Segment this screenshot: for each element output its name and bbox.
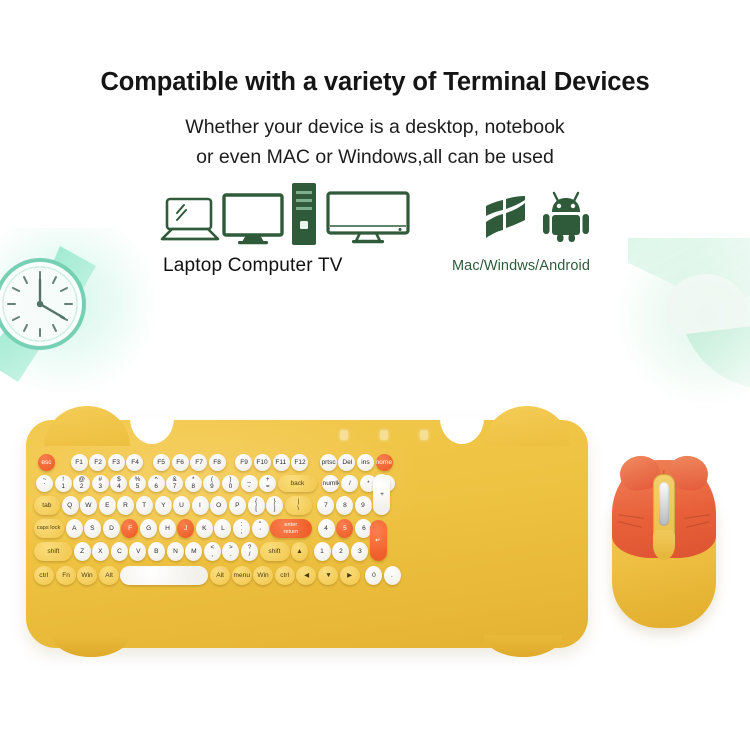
key-label: 5 — [343, 525, 347, 532]
key-label: F7 — [195, 459, 203, 466]
key-f11[interactable]: F11 — [273, 454, 290, 471]
key-label: F3 — [112, 459, 120, 466]
key-label: E — [105, 502, 109, 509]
key-0[interactable]: 0 — [365, 566, 382, 585]
key-label: $4 — [117, 477, 121, 490]
key-label: F5 — [158, 459, 166, 466]
key-o[interactable]: O — [210, 496, 227, 515]
subtitle-line-1: Whether your device is a desktop, notebo… — [0, 116, 750, 139]
key-label: *8 — [192, 477, 196, 490]
key-f7[interactable]: F7 — [190, 454, 207, 471]
key-label: numlk — [322, 480, 339, 487]
cat-ear-mouse[interactable] — [604, 452, 724, 630]
key-label: F8 — [213, 459, 221, 466]
key-label: caps lock — [37, 526, 61, 532]
key-alt[interactable]: Alt — [99, 566, 119, 585]
key-label: I — [199, 502, 201, 509]
key-label: Win — [258, 572, 269, 579]
key-f4[interactable]: F4 — [126, 454, 143, 471]
key-9[interactable]: (9 — [203, 475, 220, 492]
key-label: C — [117, 548, 122, 555]
key-label: W — [86, 502, 92, 509]
keyboard-keys: escF1F2F3F4F5F6F7F8F9F10F11F12prtscDelin… — [26, 420, 588, 648]
device-icon-row — [160, 183, 410, 245]
key-label: D — [109, 525, 114, 532]
key-label: Alt — [216, 572, 224, 579]
key-label: Del — [342, 459, 352, 466]
key-label: / — [349, 480, 351, 487]
key-prtsc[interactable]: prtsc — [320, 454, 337, 471]
key-label: N — [173, 548, 178, 555]
key-key[interactable]: "' — [252, 519, 269, 538]
key-p[interactable]: P — [229, 496, 246, 515]
key-label: tab — [42, 502, 51, 509]
key-w[interactable]: W — [80, 496, 97, 515]
key-4[interactable]: 4 — [318, 519, 335, 538]
key-f3[interactable]: F3 — [108, 454, 125, 471]
key-label: ^6 — [154, 477, 158, 490]
key-0[interactable]: )0 — [222, 475, 239, 492]
key-label: {[ — [255, 499, 257, 512]
key-label: L — [221, 525, 225, 532]
key-k[interactable]: K — [196, 519, 213, 538]
key-key[interactable]: / — [341, 475, 358, 492]
key-tab[interactable]: tab — [34, 496, 60, 515]
key-label: ctrl — [280, 572, 289, 579]
key-label: F12 — [294, 459, 305, 466]
key-label: Fn — [62, 572, 70, 579]
mouse-whisker — [618, 521, 642, 528]
key-e[interactable]: E — [99, 496, 116, 515]
mouse-whisker — [684, 514, 710, 519]
key-label: 8 — [343, 502, 347, 509]
key-z[interactable]: Z — [74, 542, 91, 561]
key-label: shift — [47, 548, 59, 555]
key-label: 9 — [361, 502, 365, 509]
os-caption: Mac/Windws/Android — [452, 258, 590, 274]
key-label: X — [98, 548, 102, 555]
key-j[interactable]: J — [177, 519, 194, 538]
key-label: K — [202, 525, 206, 532]
key-label: |\ — [297, 499, 299, 512]
pc-tower-icon — [290, 183, 318, 245]
key-label: F9 — [240, 459, 248, 466]
key-label: F1 — [75, 459, 83, 466]
key-label: Alt — [105, 572, 113, 579]
key-menu[interactable]: menu — [232, 566, 252, 585]
key-key[interactable]: ◀ — [296, 566, 316, 585]
key-7[interactable]: 7 — [317, 496, 334, 515]
key-f2[interactable]: F2 — [89, 454, 106, 471]
key-8[interactable]: 8 — [336, 496, 353, 515]
key-2[interactable]: 2 — [332, 542, 349, 561]
key-label: &7 — [173, 477, 177, 490]
key-back[interactable]: back — [278, 475, 317, 492]
key-label: ▼ — [325, 572, 332, 579]
key-label: }] — [274, 499, 276, 512]
key-f8[interactable]: F8 — [209, 454, 226, 471]
key-label: %5 — [135, 477, 141, 490]
key-label: ins — [361, 459, 369, 466]
monitor-icon — [222, 193, 284, 245]
key-v[interactable]: V — [129, 542, 146, 561]
key-label: 4 — [324, 525, 328, 532]
windows-logo-icon — [482, 196, 528, 242]
wristwatch-decoration — [0, 232, 118, 382]
key-label: enter return — [284, 522, 299, 535]
key-label: 3 — [358, 548, 362, 555]
key-label: R — [124, 502, 129, 509]
key-label: #3 — [99, 477, 103, 490]
key-key[interactable]: {[ — [248, 496, 265, 515]
key-f6[interactable]: F6 — [172, 454, 189, 471]
key-label: ctrl — [40, 572, 49, 579]
mouse-scroll-wheel[interactable] — [659, 482, 669, 526]
key-label: menu — [233, 572, 249, 579]
cat-ear-keyboard[interactable]: escF1F2F3F4F5F6F7F8F9F10F11F12prtscDelin… — [26, 420, 588, 648]
key-key[interactable]: ▼ — [318, 566, 338, 585]
key-label: @2 — [78, 477, 85, 490]
key-win[interactable]: Win — [77, 566, 97, 585]
key-key[interactable]: ▲ — [291, 542, 308, 561]
key-9[interactable]: 9 — [355, 496, 372, 515]
key-label: O — [216, 502, 221, 509]
key-label: B — [154, 548, 158, 555]
key-label: ↵ — [375, 537, 381, 544]
key-3[interactable]: 3 — [351, 542, 368, 561]
key-label: 0 — [372, 572, 376, 579]
key-f1[interactable]: F1 — [71, 454, 88, 471]
key-t[interactable]: T — [136, 496, 153, 515]
key-key[interactable]: ?/ — [241, 542, 258, 561]
tv-icon — [326, 191, 410, 245]
key-label: += — [266, 477, 270, 490]
key-label: :; — [241, 522, 243, 535]
key-alt[interactable]: Alt — [210, 566, 230, 585]
key-d[interactable]: D — [103, 519, 120, 538]
key-r[interactable]: R — [117, 496, 134, 515]
key-label: "' — [259, 522, 261, 535]
subtitle-line-2: or even MAC or Windows,all can be used — [0, 146, 750, 169]
key-numlk[interactable]: numlk — [322, 475, 339, 492]
key-label: S — [90, 525, 94, 532]
key-6[interactable]: ^6 — [148, 475, 165, 492]
key-key[interactable]: + — [373, 474, 390, 515]
key-label: ▲ — [296, 548, 303, 555]
key-label: Z — [80, 548, 84, 555]
key-ins[interactable]: ins — [357, 454, 374, 471]
key-key[interactable]: <, — [204, 542, 221, 561]
key-u[interactable]: U — [173, 496, 190, 515]
key-h[interactable]: H — [159, 519, 176, 538]
key-key[interactable]: _- — [241, 475, 258, 492]
key-label: ~` — [43, 477, 47, 490]
key-ctrl[interactable]: ctrl — [275, 566, 295, 585]
key-label: V — [136, 548, 140, 555]
key-label: >. — [229, 545, 233, 558]
mouse-whisker — [686, 521, 710, 528]
key-esc[interactable]: esc — [38, 454, 55, 471]
key-s[interactable]: S — [84, 519, 101, 538]
key-label: A — [72, 525, 76, 532]
key-key[interactable]: ~` — [36, 475, 53, 492]
key-5[interactable]: 5 — [336, 519, 353, 538]
android-logo-icon — [540, 190, 592, 242]
key-label: prtsc — [321, 459, 335, 466]
key-shift[interactable]: shift — [260, 542, 290, 561]
key-label: 6 — [362, 525, 366, 532]
key-m[interactable]: M — [185, 542, 202, 561]
key-label: F2 — [94, 459, 102, 466]
key-label: 2 — [339, 548, 343, 555]
key-n[interactable]: N — [167, 542, 184, 561]
key-4[interactable]: $4 — [110, 475, 127, 492]
key-y[interactable]: Y — [155, 496, 172, 515]
key-label: shift — [269, 548, 281, 555]
key-home[interactable]: home — [376, 454, 393, 471]
product-banner: Compatible with a variety of Terminal De… — [0, 0, 750, 750]
key-f12[interactable]: F12 — [291, 454, 308, 471]
key-label: F10 — [257, 459, 268, 466]
green-blob-decoration — [628, 238, 750, 388]
page-title: Compatible with a variety of Terminal De… — [0, 68, 750, 97]
key-label: . — [391, 572, 393, 579]
key-1[interactable]: !1 — [55, 475, 72, 492]
key-label: P — [235, 502, 239, 509]
key-7[interactable]: &7 — [166, 475, 183, 492]
key-shift[interactable]: shift — [34, 542, 72, 561]
key-win[interactable]: Win — [253, 566, 273, 585]
key-x[interactable]: X — [92, 542, 109, 561]
key-label: + — [380, 491, 384, 498]
key-f9[interactable]: F9 — [235, 454, 252, 471]
key-ctrl[interactable]: ctrl — [34, 566, 54, 585]
os-logo-row — [482, 186, 592, 242]
key-label: ▶ — [347, 572, 352, 579]
key-label: Y — [161, 502, 165, 509]
key-label: F6 — [176, 459, 184, 466]
key-label: M — [191, 548, 196, 555]
key-label: ◀ — [304, 572, 309, 579]
key-b[interactable]: B — [148, 542, 165, 561]
key-q[interactable]: Q — [62, 496, 79, 515]
key-label: U — [179, 502, 184, 509]
key-label: <, — [210, 545, 214, 558]
key-l[interactable]: L — [214, 519, 231, 538]
key-f10[interactable]: F10 — [254, 454, 271, 471]
key-label: J — [184, 525, 187, 532]
key-label: H — [165, 525, 170, 532]
mouse-nose — [653, 530, 675, 560]
key-g[interactable]: G — [140, 519, 157, 538]
key-f5[interactable]: F5 — [153, 454, 170, 471]
key-label: F11 — [276, 459, 287, 466]
key-key[interactable]: += — [259, 475, 276, 492]
key-key[interactable]: }] — [266, 496, 283, 515]
key-5[interactable]: %5 — [129, 475, 146, 492]
key-caps-lock[interactable]: caps lock — [34, 519, 64, 538]
key-key[interactable]: :; — [233, 519, 250, 538]
key-f[interactable]: F — [121, 519, 138, 538]
key-label: G — [146, 525, 151, 532]
key-label: esc — [41, 459, 51, 466]
key-c[interactable]: C — [111, 542, 128, 561]
key-label: * — [367, 480, 370, 487]
key-label: F — [128, 525, 132, 532]
key-space[interactable] — [120, 566, 208, 585]
key-label: back — [290, 480, 304, 487]
key-label: )0 — [229, 477, 233, 490]
key-2[interactable]: @2 — [73, 475, 90, 492]
laptop-icon — [160, 195, 220, 245]
key-key[interactable]: |\ — [285, 496, 312, 515]
key-enter-return[interactable]: enter return — [270, 519, 312, 538]
key-label: ?/ — [248, 545, 252, 558]
device-caption: Laptop Computer TV — [163, 255, 343, 277]
key-label: F4 — [131, 459, 139, 466]
key-key[interactable]: . — [384, 566, 401, 585]
key-3[interactable]: #3 — [92, 475, 109, 492]
key-label: !1 — [61, 477, 65, 490]
key-label: 7 — [324, 502, 328, 509]
key-i[interactable]: I — [192, 496, 209, 515]
key-key[interactable]: ▶ — [340, 566, 360, 585]
key-a[interactable]: A — [66, 519, 83, 538]
key-label: Q — [68, 502, 73, 509]
key-key[interactable]: ↵ — [370, 520, 387, 561]
key-fn[interactable]: Fn — [56, 566, 76, 585]
key-label: _- — [247, 477, 251, 490]
key-label: Win — [82, 572, 93, 579]
key-del[interactable]: Del — [338, 454, 355, 471]
key-1[interactable]: 1 — [314, 542, 331, 561]
key-key[interactable]: >. — [222, 542, 239, 561]
key-label: T — [142, 502, 146, 509]
mouse-whisker — [618, 514, 644, 519]
key-8[interactable]: *8 — [185, 475, 202, 492]
key-label: home — [376, 459, 392, 466]
key-label: (9 — [210, 477, 214, 490]
key-label: 1 — [320, 548, 324, 555]
